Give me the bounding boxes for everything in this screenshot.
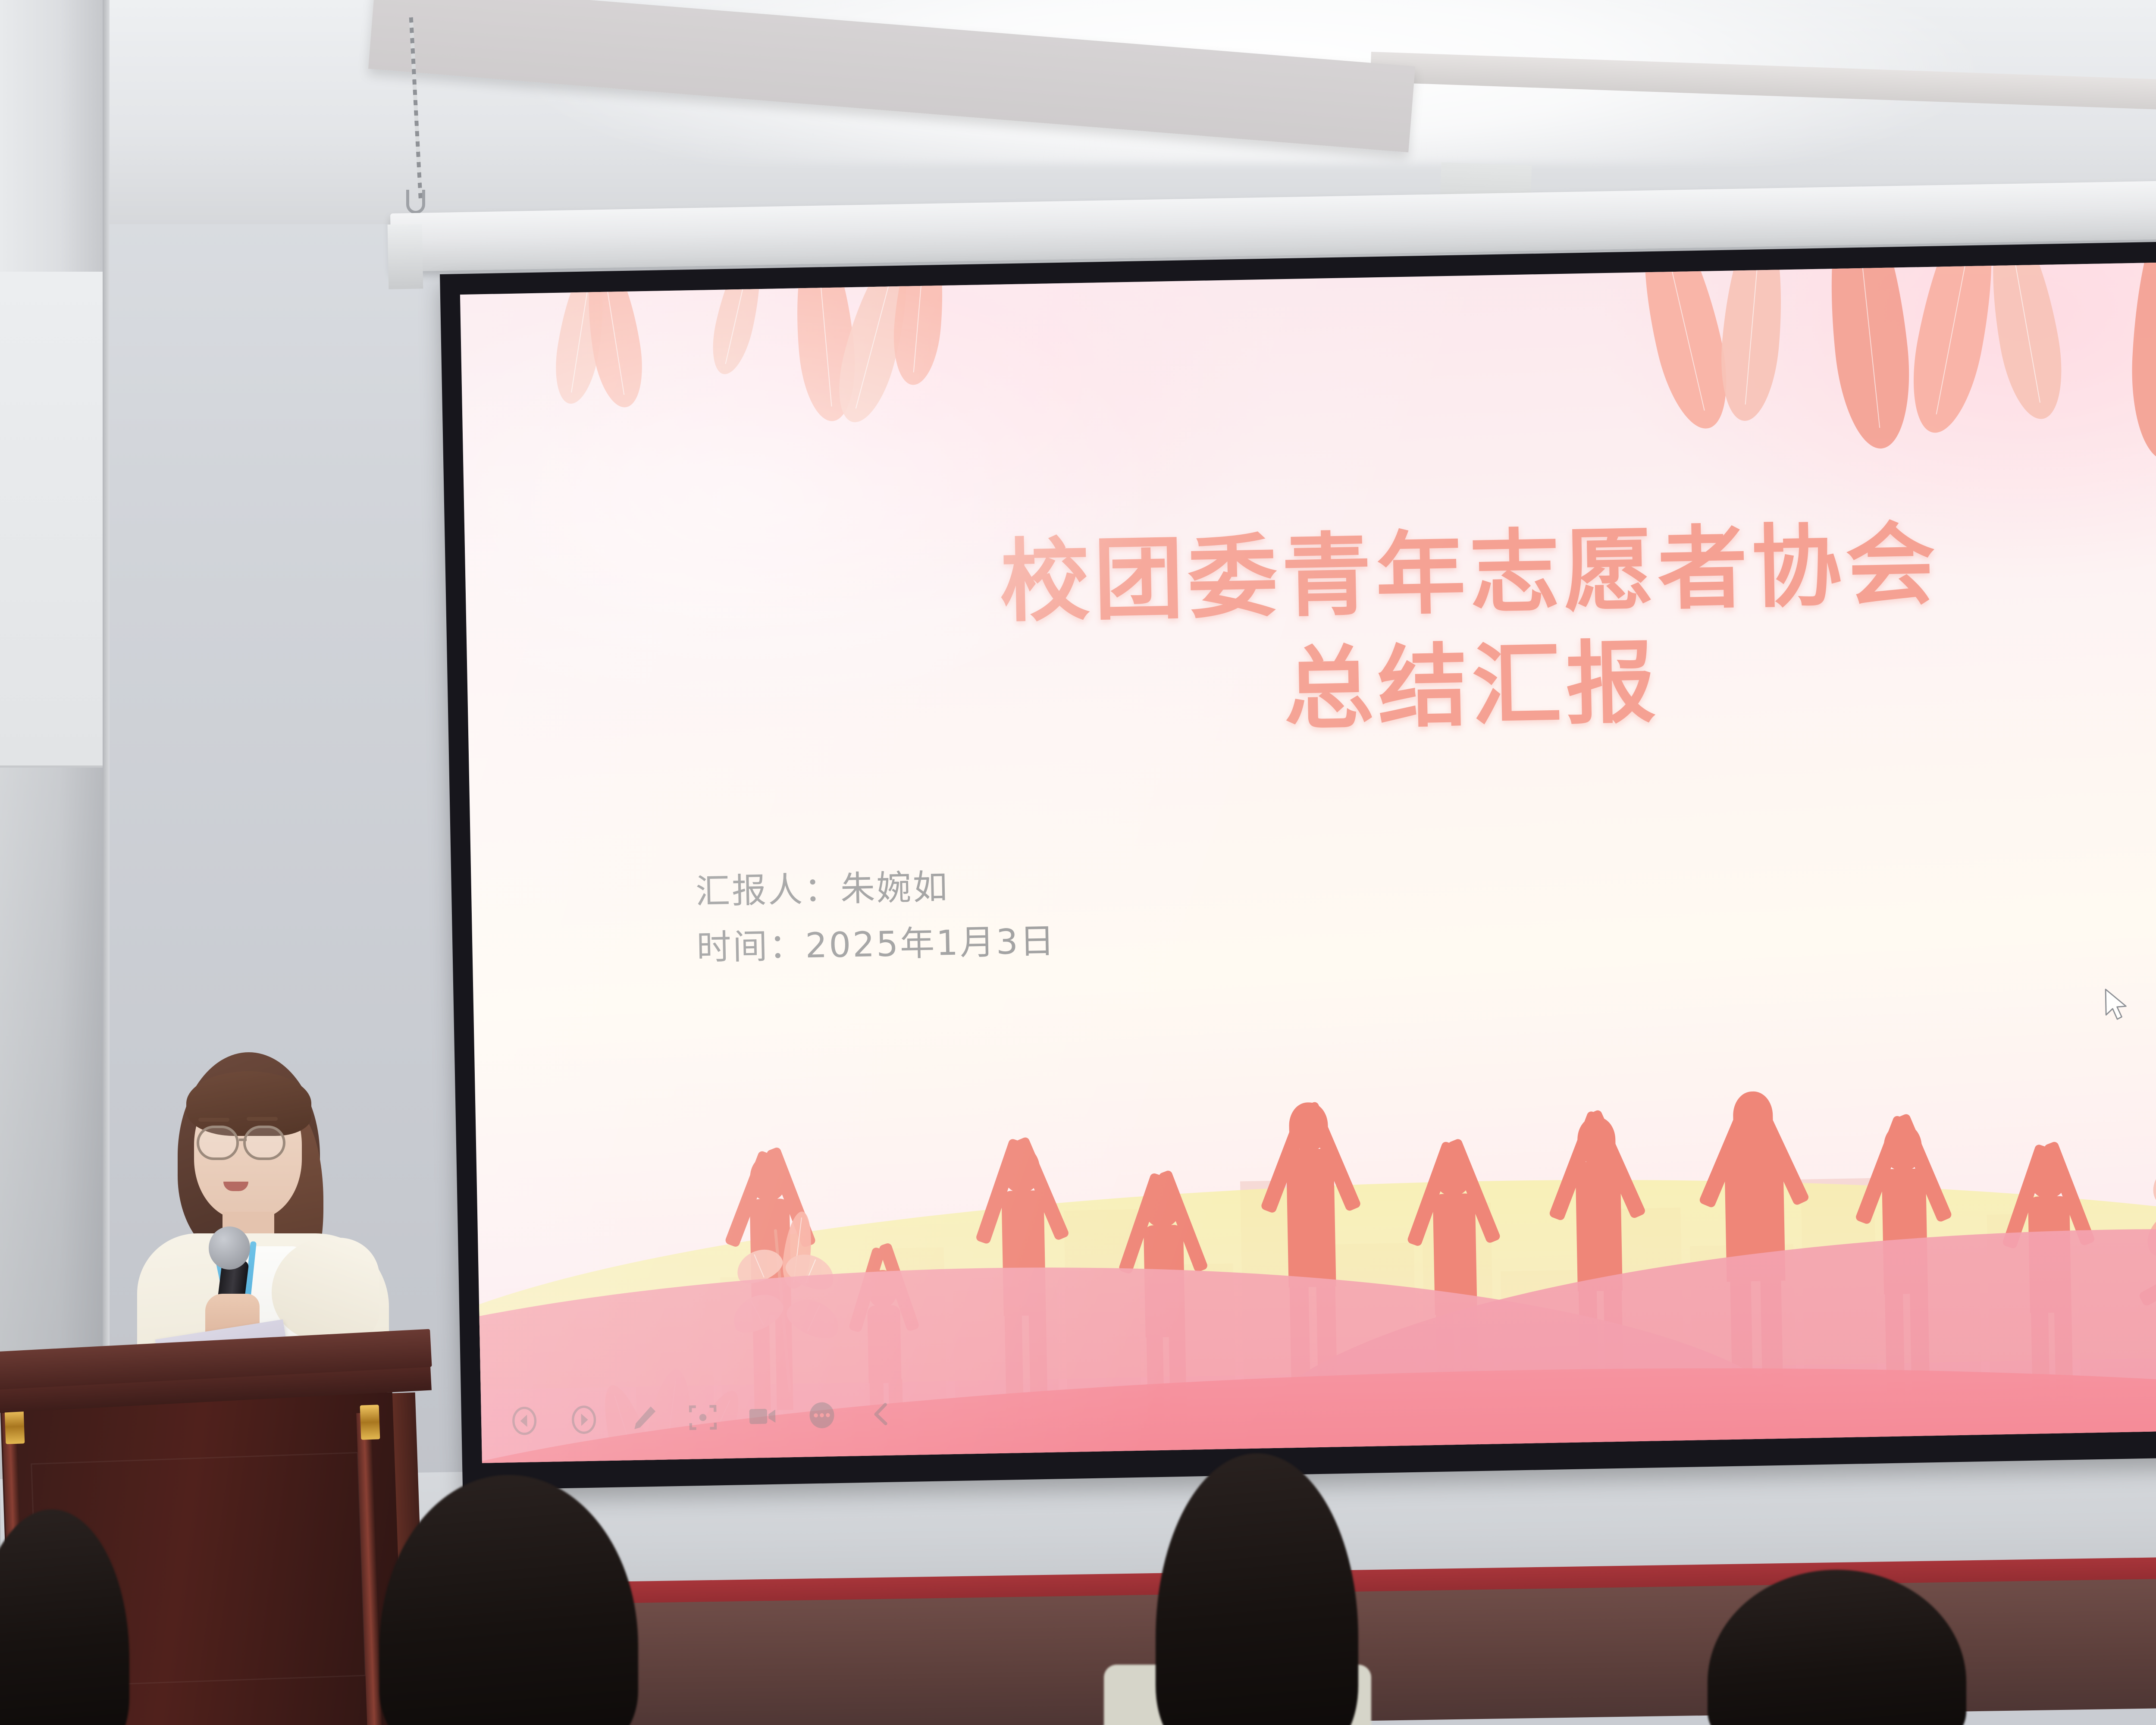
slide-meta-block: 汇报人：朱婉如 时间：2025年1月3日 bbox=[695, 857, 1056, 975]
screen-hook-left bbox=[406, 190, 425, 214]
presenter-hair-fringe bbox=[186, 1071, 311, 1136]
projector-screen: 校团委青年志愿者协会 总结汇报 汇报人：朱婉如 时间：2025年1月3日 bbox=[440, 235, 2156, 1490]
handheld-microphone-head bbox=[209, 1226, 250, 1270]
presentation-slide[interactable]: 校团委青年志愿者协会 总结汇报 汇报人：朱婉如 时间：2025年1月3日 bbox=[460, 257, 2156, 1463]
presenter-line: 汇报人：朱婉如 bbox=[695, 857, 1056, 919]
screen-roller-endcap bbox=[388, 224, 423, 289]
audience-head-2 bbox=[379, 1475, 638, 1725]
date-line: 时间：2025年1月3日 bbox=[696, 913, 1056, 975]
eyeglasses-bridge bbox=[239, 1138, 247, 1141]
lecture-hall-photo: 校团委青年志愿者协会 总结汇报 汇报人：朱婉如 时间：2025年1月3日 bbox=[0, 0, 2156, 1725]
presenter bbox=[129, 1052, 397, 1345]
slide-title-line-2: 总结汇报 bbox=[467, 611, 2156, 762]
eyeglasses-right-lens bbox=[243, 1126, 285, 1160]
eyeglasses-left-lens bbox=[197, 1126, 239, 1160]
mouse-cursor bbox=[2103, 988, 2131, 1024]
left-wall-panel bbox=[0, 272, 103, 768]
slide-title: 校团委青年志愿者协会 总结汇报 bbox=[464, 498, 2156, 762]
audience-row bbox=[0, 1363, 2156, 1725]
audience-head-1 bbox=[0, 1509, 129, 1725]
slide-title-line-1: 校团委青年志愿者协会 bbox=[999, 513, 1940, 635]
audience-head-3 bbox=[1156, 1453, 1358, 1725]
presenter-brow-left bbox=[198, 1118, 229, 1122]
presenter-brow-right bbox=[247, 1117, 278, 1121]
audience-head-4 bbox=[1708, 1570, 1966, 1725]
